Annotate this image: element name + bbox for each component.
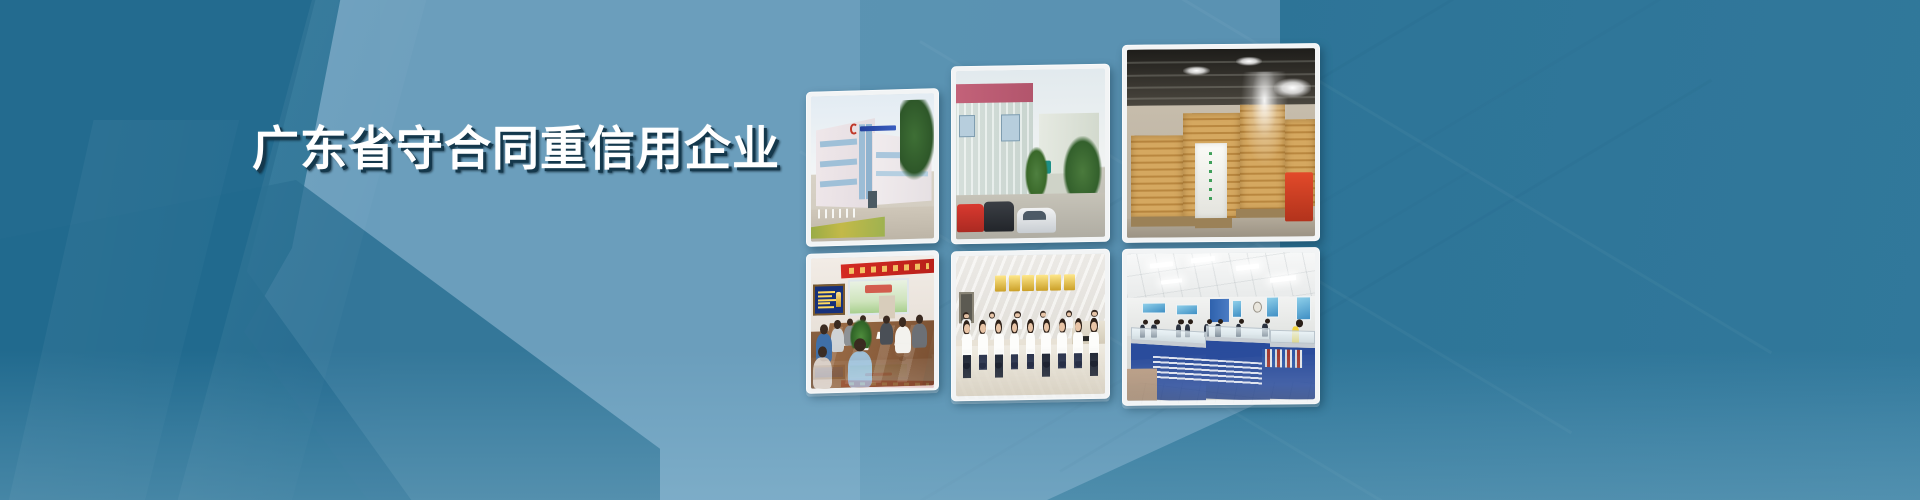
collage-photo-office-cubicles[interactable] [1122,247,1320,406]
lobby-wall-lettering [995,274,1075,292]
facade-company-logo [850,122,897,136]
collage-photo-conference-meeting[interactable] [806,250,939,394]
photo-collage [806,40,1326,360]
banner-headline: 广东省守合同重信用企业 [252,126,780,173]
promo-banner: 广东省守合同重信用企业 [0,0,1920,500]
collage-photo-staff-group[interactable] [951,249,1110,402]
collage-photo-material-warehouse[interactable] [1122,43,1320,243]
collage-photo-warehouse-building[interactable] [951,64,1110,245]
collage-photo-factory-exterior[interactable] [806,88,939,247]
